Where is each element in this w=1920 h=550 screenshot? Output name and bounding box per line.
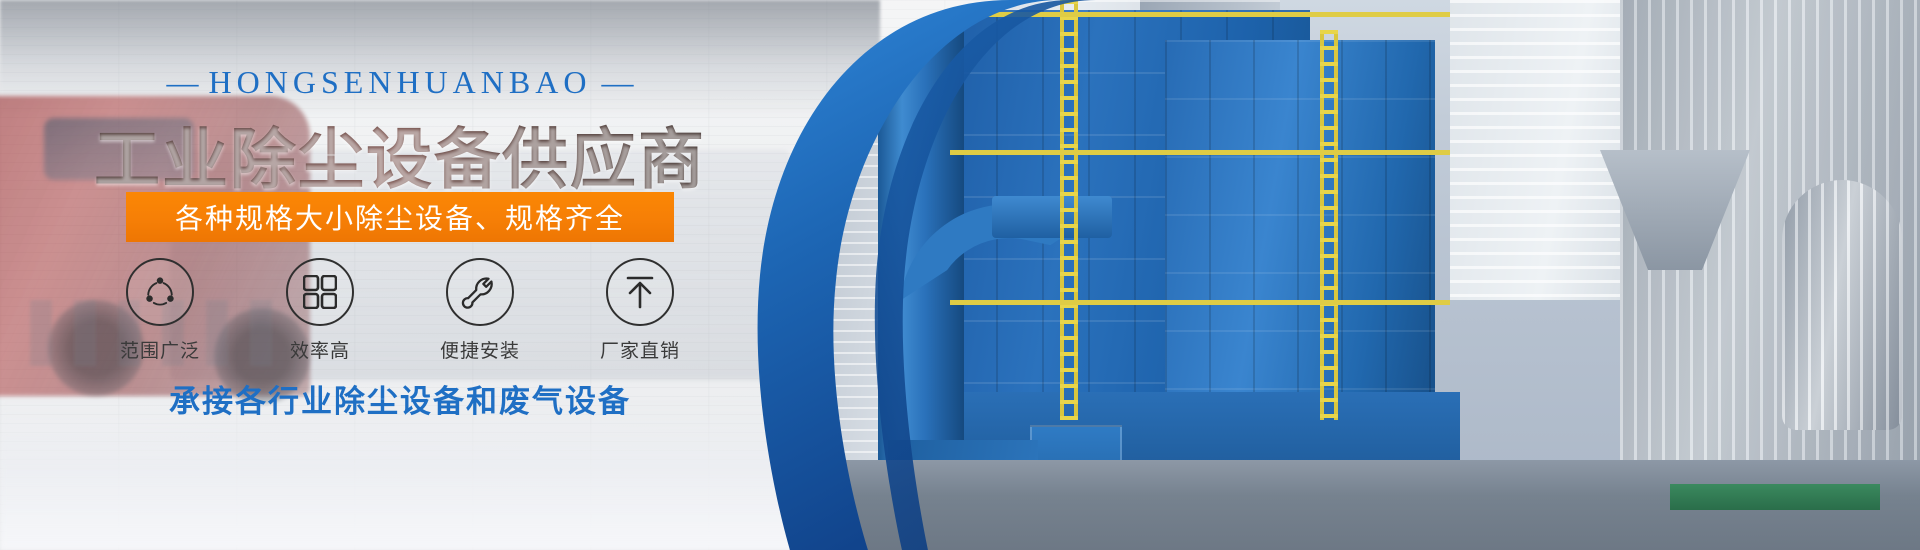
- eyebrow-line: —HONGSENHUANBAO—: [0, 64, 800, 101]
- hero-banner: —HONGSENHUANBAO— 工业除尘设备供应商 各种规格大小除尘设备、规格…: [0, 0, 1920, 550]
- orange-subtitle-bar: 各种规格大小除尘设备、规格齐全: [126, 192, 674, 242]
- yellow-railing: [950, 12, 1450, 17]
- wrench-glyph: [461, 273, 499, 311]
- yellow-railing: [950, 150, 1450, 155]
- horizontal-duct: [992, 196, 1112, 238]
- banner-content: —HONGSENHUANBAO— 工业除尘设备供应商 各种规格大小除尘设备、规格…: [0, 0, 860, 550]
- wrench-icon: [446, 258, 514, 326]
- green-fence: [1670, 484, 1880, 510]
- yellow-ladder: [1060, 0, 1078, 420]
- yellow-ladder: [1320, 30, 1338, 420]
- dash-left: —: [157, 64, 209, 100]
- feature-list: 范围广泛 效率高: [100, 258, 700, 363]
- blue-baghouse-module: [1165, 40, 1435, 425]
- orange-subtitle-text: 各种规格大小除尘设备、规格齐全: [175, 197, 625, 237]
- network-nodes-glyph: [141, 273, 179, 311]
- feature-item-installation[interactable]: 便捷安装: [420, 258, 540, 363]
- four-squares-grid-icon: [286, 258, 354, 326]
- right-equipment-photo: [760, 0, 1920, 550]
- feature-item-scope[interactable]: 范围广泛: [100, 258, 220, 363]
- four-squares-glyph: [303, 275, 337, 309]
- feature-label: 效率高: [260, 336, 380, 363]
- eyebrow-text: HONGSENHUANBAO: [209, 64, 592, 100]
- yellow-railing: [950, 300, 1450, 305]
- silver-tank: [1782, 180, 1902, 430]
- tagline: 承接各行业除尘设备和废气设备: [0, 376, 800, 421]
- page-title: 工业除尘设备供应商: [0, 106, 800, 202]
- dash-right: —: [591, 64, 643, 100]
- up-arrow-icon: [606, 258, 674, 326]
- up-arrow-glyph: [623, 274, 657, 310]
- network-nodes-icon: [126, 258, 194, 326]
- feature-label: 范围广泛: [100, 336, 220, 363]
- feature-item-efficiency[interactable]: 效率高: [260, 258, 380, 363]
- feature-label: 厂家直销: [580, 336, 700, 363]
- feature-label: 便捷安装: [420, 336, 540, 363]
- feature-item-factory-direct[interactable]: 厂家直销: [580, 258, 700, 363]
